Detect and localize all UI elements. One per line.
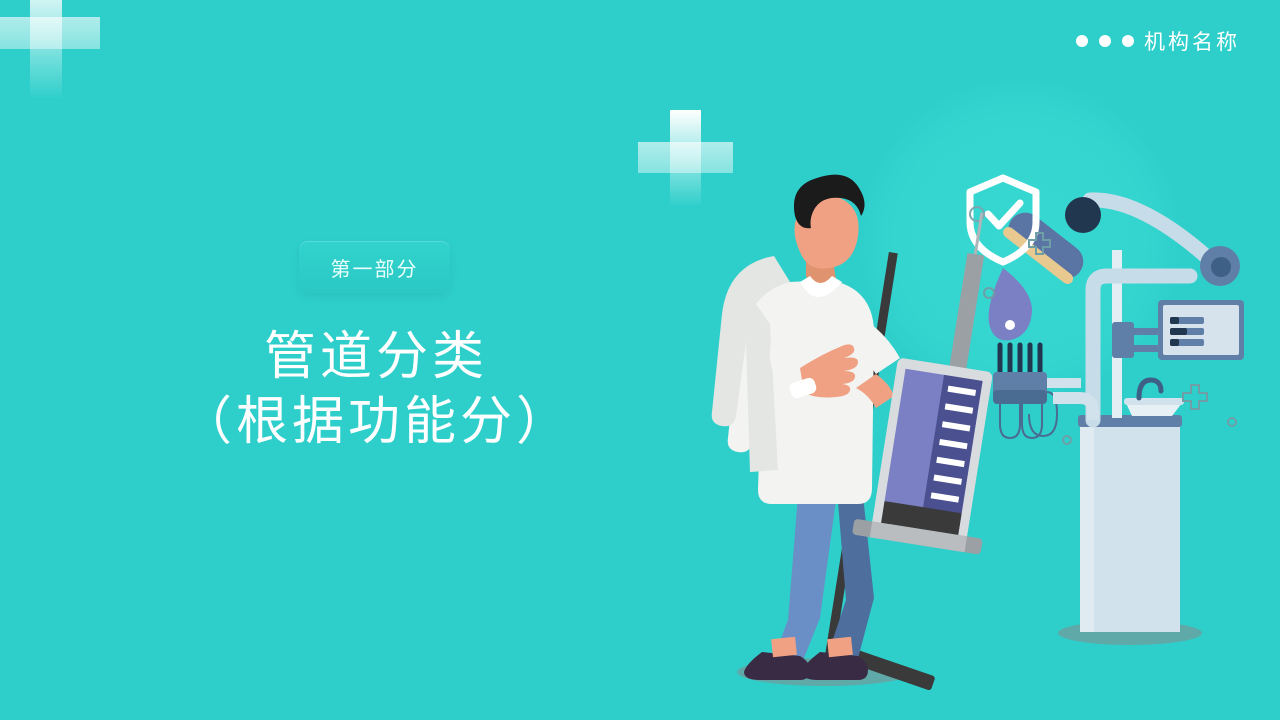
doctor-figure <box>712 175 900 680</box>
slide-root: 机构名称 第一部分 管道分类 （根据功能分） <box>0 0 1280 720</box>
medical-illustration <box>0 0 1280 720</box>
droplet-icon <box>989 268 1032 340</box>
monitor-panel-icon <box>1158 300 1244 360</box>
instrument-tray-icon <box>993 345 1093 438</box>
